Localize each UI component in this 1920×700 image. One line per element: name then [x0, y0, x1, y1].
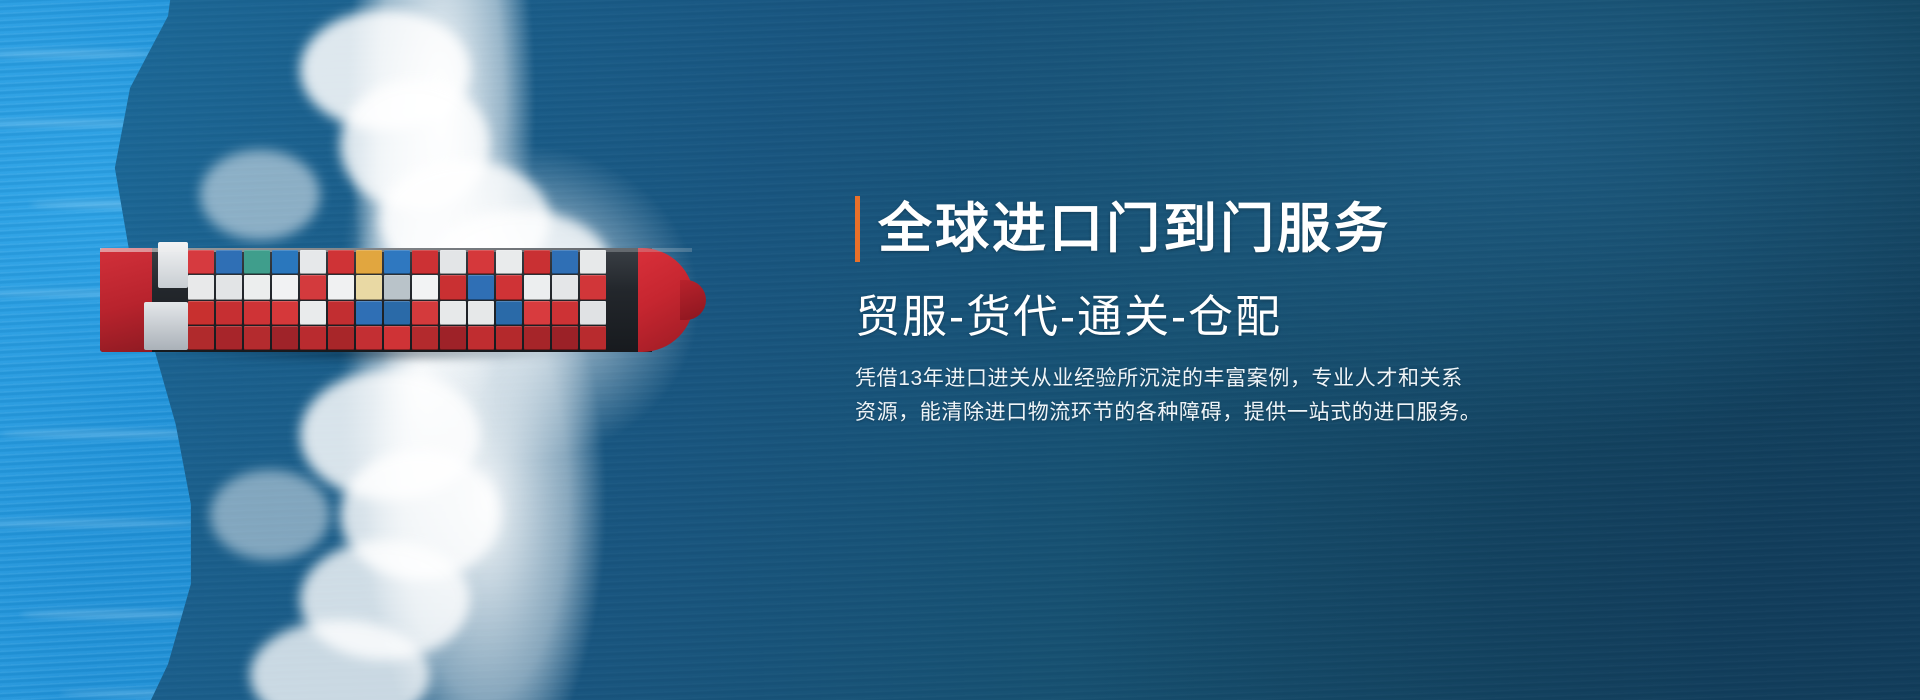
cargo-container	[356, 301, 382, 325]
container-stack	[384, 250, 410, 350]
cargo-container	[300, 301, 326, 325]
cargo-container	[580, 275, 606, 299]
container-stack	[496, 250, 522, 350]
cargo-container	[440, 275, 466, 299]
container-ship-icon	[100, 248, 652, 352]
cargo-container	[356, 326, 382, 350]
cargo-container	[244, 301, 270, 325]
cargo-container	[272, 301, 298, 325]
cargo-container	[216, 250, 242, 274]
cargo-container	[188, 275, 214, 299]
container-stack	[244, 250, 270, 350]
cargo-container	[272, 326, 298, 350]
cargo-container	[552, 275, 578, 299]
cargo-container	[384, 326, 410, 350]
cargo-container	[524, 275, 550, 299]
cargo-container	[580, 326, 606, 350]
headline-row: 全球进口门到门服务	[855, 196, 1755, 262]
cargo-container	[468, 301, 494, 325]
cargo-container-grid	[188, 250, 606, 350]
cargo-container	[272, 250, 298, 274]
cargo-container	[468, 250, 494, 274]
container-stack	[328, 250, 354, 350]
banner-description-line-1: 凭借13年进口进关从业经验所沉淀的丰富案例，专业人才和关系	[855, 362, 1575, 396]
cargo-container	[384, 275, 410, 299]
cargo-container	[412, 275, 438, 299]
container-stack	[524, 250, 550, 350]
cargo-container	[468, 326, 494, 350]
cargo-container	[580, 250, 606, 274]
banner-description: 凭借13年进口进关从业经验所沉淀的丰富案例，专业人才和关系 资源，能清除进口物流…	[855, 362, 1575, 430]
container-stack	[356, 250, 382, 350]
cargo-container	[524, 250, 550, 274]
cargo-container	[440, 326, 466, 350]
cargo-container	[440, 250, 466, 274]
cargo-container	[356, 250, 382, 274]
cargo-container	[524, 301, 550, 325]
cargo-container	[328, 250, 354, 274]
hero-banner: 全球进口门到门服务 贸服-货代-通关-仓配 凭借13年进口进关从业经验所沉淀的丰…	[0, 0, 1920, 700]
cargo-container	[244, 326, 270, 350]
page-title: 全球进口门到门服务	[878, 196, 1391, 262]
banner-description-line-2: 资源，能清除进口物流环节的各种障碍，提供一站式的进口服务。	[855, 396, 1575, 430]
container-stack	[300, 250, 326, 350]
cargo-container	[412, 250, 438, 274]
container-stack	[412, 250, 438, 350]
cargo-container	[188, 326, 214, 350]
cargo-container	[356, 275, 382, 299]
cargo-container	[412, 326, 438, 350]
cargo-container	[552, 301, 578, 325]
cargo-container	[496, 275, 522, 299]
banner-subtitle: 贸服-货代-通关-仓配	[855, 288, 1755, 346]
container-stack	[552, 250, 578, 350]
container-stack	[188, 250, 214, 350]
cargo-container	[552, 326, 578, 350]
cargo-container	[216, 275, 242, 299]
container-stack	[440, 250, 466, 350]
cargo-container	[300, 326, 326, 350]
cargo-container	[468, 275, 494, 299]
cargo-container	[328, 275, 354, 299]
foam-blob	[200, 150, 320, 240]
cargo-container	[328, 326, 354, 350]
cargo-container	[580, 301, 606, 325]
foam-blob	[210, 470, 330, 560]
cargo-container	[328, 301, 354, 325]
cargo-container	[216, 301, 242, 325]
cargo-container	[496, 301, 522, 325]
cargo-container	[272, 275, 298, 299]
cargo-container	[496, 250, 522, 274]
container-stack	[468, 250, 494, 350]
cargo-container	[412, 301, 438, 325]
cargo-container	[384, 250, 410, 274]
cargo-container	[496, 326, 522, 350]
ship-bridge-lower	[144, 302, 188, 350]
cargo-container	[244, 250, 270, 274]
cargo-container	[188, 301, 214, 325]
cargo-container	[188, 250, 214, 274]
banner-text-block: 全球进口门到门服务 贸服-货代-通关-仓配 凭借13年进口进关从业经验所沉淀的丰…	[855, 196, 1755, 430]
cargo-container	[300, 275, 326, 299]
container-stack	[272, 250, 298, 350]
cargo-container	[300, 250, 326, 274]
cargo-container	[244, 275, 270, 299]
cargo-container	[216, 326, 242, 350]
cargo-container	[524, 326, 550, 350]
cargo-container	[384, 301, 410, 325]
cargo-container	[440, 301, 466, 325]
orange-accent-bar-icon	[855, 196, 860, 262]
container-stack	[580, 250, 606, 350]
cargo-container	[552, 250, 578, 274]
container-stack	[216, 250, 242, 350]
